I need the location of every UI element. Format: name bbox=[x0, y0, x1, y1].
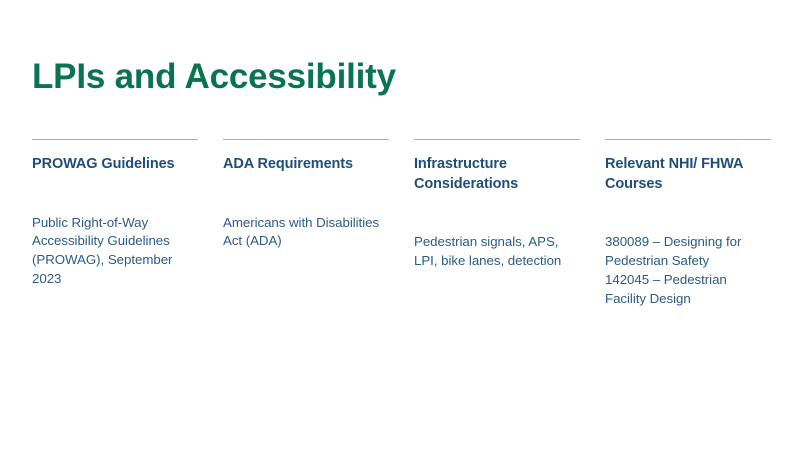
column-body-text: Pedestrian signals, APS, LPI, bike lanes… bbox=[414, 233, 580, 271]
column-relevant-nhi-fhwa-courses: Relevant NHI/ FHWA Courses 380089 – Desi… bbox=[605, 139, 771, 309]
column-heading: ADA Requirements bbox=[223, 155, 389, 175]
column-body-text: Public Right-of-Way Accessibility Guidel… bbox=[32, 214, 198, 290]
course-entry: 142045 – Pedestrian Facility Design bbox=[605, 271, 771, 309]
page-title: LPIs and Accessibility bbox=[32, 58, 396, 97]
column-body-text: Americans with Disabilities Act (ADA) bbox=[223, 214, 389, 252]
column-heading: Infrastructure Considerations bbox=[414, 155, 580, 194]
column-heading: Relevant NHI/ FHWA Courses bbox=[605, 155, 771, 194]
column-prowag-guidelines: PROWAG Guidelines Public Right-of-Way Ac… bbox=[32, 139, 198, 289]
course-entry: 380089 – Designing for Pedestrian Safety bbox=[605, 233, 771, 271]
column-heading: PROWAG Guidelines bbox=[32, 155, 198, 175]
content-columns: PROWAG Guidelines Public Right-of-Way Ac… bbox=[32, 139, 779, 309]
column-infrastructure-considerations: Infrastructure Considerations Pedestrian… bbox=[414, 139, 580, 271]
column-ada-requirements: ADA Requirements Americans with Disabili… bbox=[223, 139, 389, 251]
column-divider-rule bbox=[605, 139, 771, 140]
column-divider-rule bbox=[32, 139, 198, 140]
column-divider-rule bbox=[223, 139, 389, 140]
column-body-text: 380089 – Designing for Pedestrian Safety… bbox=[605, 233, 771, 309]
slide-canvas: LPIs and Accessibility PROWAG Guidelines… bbox=[0, 0, 809, 455]
column-divider-rule bbox=[414, 139, 580, 140]
